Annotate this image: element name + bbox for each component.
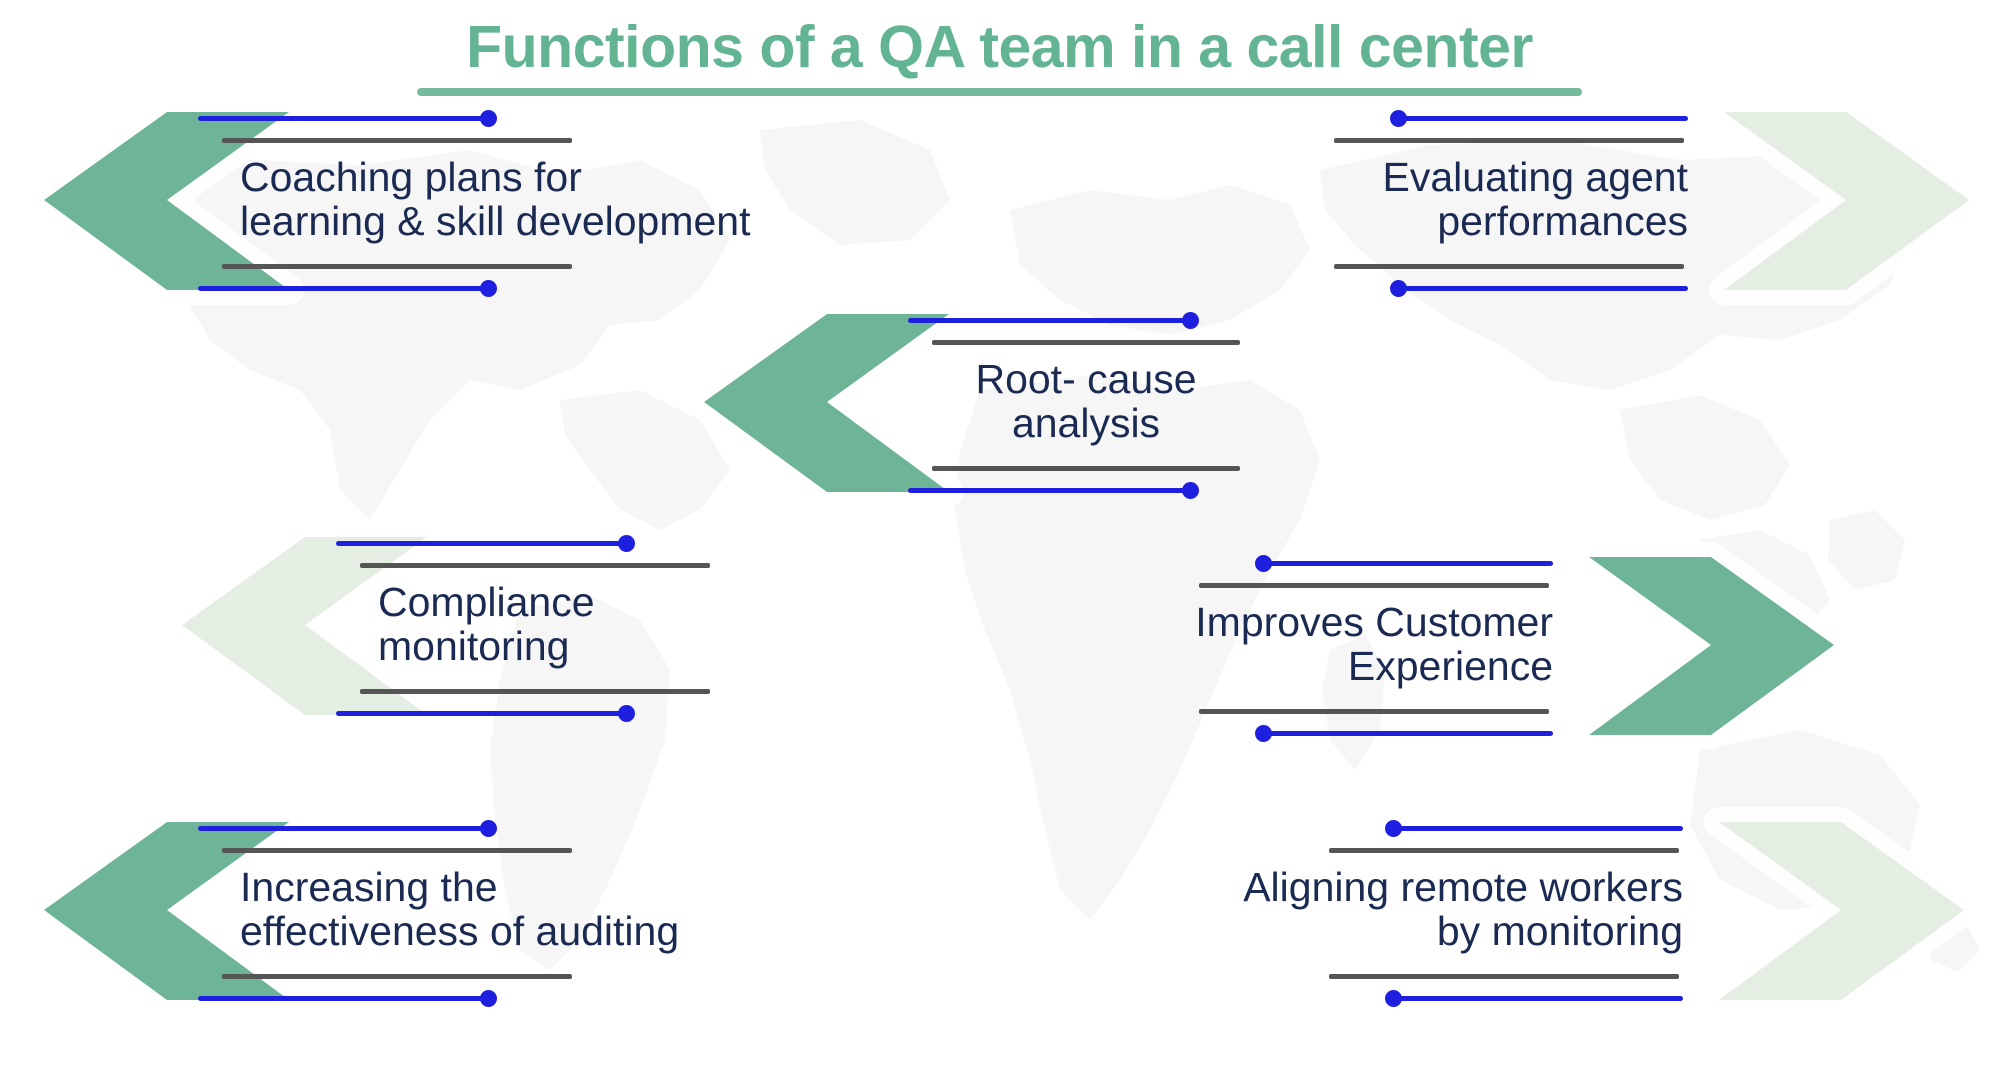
rule-grey-top [360, 563, 710, 568]
rule-blue-top [1393, 826, 1683, 831]
rule-dot-bottom [1390, 280, 1407, 297]
panel-improves-customer-experience: Improves Customer Experience [1155, 553, 1675, 743]
block-label: Root- cause analysis [932, 358, 1240, 446]
rule-dot-top [1390, 110, 1407, 127]
block-label: Coaching plans for learning & skill deve… [240, 156, 760, 244]
rule-blue-bottom [198, 996, 488, 1001]
rule-blue-bottom [336, 711, 626, 716]
panel-coaching-plans: Coaching plans for learning & skill deve… [198, 108, 720, 298]
rule-grey-bottom [1199, 709, 1549, 714]
rule-grey-bottom [932, 466, 1240, 471]
rule-grey-top [1329, 848, 1679, 853]
rule-grey-top [222, 138, 572, 143]
panel-aligning-remote-workers: Aligning remote workers by monitoring [1235, 818, 1805, 1008]
rule-grey-top [1334, 138, 1684, 143]
rule-blue-top [198, 116, 488, 121]
rule-blue-top [336, 541, 626, 546]
rule-grey-bottom [222, 974, 572, 979]
rule-dot-bottom [480, 990, 497, 1007]
rule-blue-bottom [1398, 286, 1688, 291]
block-compliance-monitoring[interactable]: Compliance monitoring [178, 533, 828, 723]
block-coaching-plans[interactable]: Coaching plans for learning & skill deve… [40, 108, 720, 298]
rule-grey-bottom [360, 689, 710, 694]
block-label: Compliance monitoring [378, 581, 808, 669]
rule-dot-top [1255, 555, 1272, 572]
rule-grey-top [1199, 583, 1549, 588]
rule-dot-bottom [1255, 725, 1272, 742]
rule-grey-top [222, 848, 572, 853]
title-block: Functions of a QA team in a call center [0, 0, 1999, 96]
rule-dot-top [480, 820, 497, 837]
rule-dot-top [1182, 312, 1199, 329]
block-label: Aligning remote workers by monitoring [1215, 866, 1683, 954]
panel-evaluating-agent-performances: Evaluating agent performances [1290, 108, 1810, 298]
rule-blue-top [1263, 561, 1553, 566]
block-label: Increasing the effectiveness of auditing [240, 866, 760, 954]
rule-grey-bottom [1334, 264, 1684, 269]
block-increasing-effectiveness-auditing[interactable]: Increasing the effectiveness of auditing [40, 818, 720, 1008]
panel-compliance-monitoring: Compliance monitoring [336, 533, 828, 723]
rule-blue-bottom [1393, 996, 1683, 1001]
block-root-cause-analysis[interactable]: Root- cause analysis [700, 310, 1340, 500]
rule-grey-top [932, 340, 1240, 345]
block-improves-customer-experience[interactable]: Improves Customer Experience [1155, 553, 1845, 743]
rule-grey-bottom [1329, 974, 1679, 979]
rule-blue-top [908, 318, 1190, 323]
block-label: Evaluating agent performances [1290, 156, 1688, 244]
block-label: Improves Customer Experience [1085, 601, 1553, 689]
rule-blue-bottom [1263, 731, 1553, 736]
rule-blue-top [1398, 116, 1688, 121]
rule-dot-bottom [1182, 482, 1199, 499]
rule-dot-top [1385, 820, 1402, 837]
block-evaluating-agent-performances[interactable]: Evaluating agent performances [1290, 108, 1980, 298]
rule-dot-bottom [1385, 990, 1402, 1007]
page-title: Functions of a QA team in a call center [0, 0, 1999, 80]
rule-dot-top [480, 110, 497, 127]
rule-blue-bottom [198, 286, 488, 291]
rule-dot-bottom [480, 280, 497, 297]
rule-dot-bottom [618, 705, 635, 722]
panel-increasing-effectiveness-auditing: Increasing the effectiveness of auditing [198, 818, 720, 1008]
block-aligning-remote-workers[interactable]: Aligning remote workers by monitoring [1235, 818, 1975, 1008]
rule-grey-bottom [222, 264, 572, 269]
rule-blue-bottom [908, 488, 1190, 493]
title-underline [417, 88, 1582, 96]
rule-dot-top [618, 535, 635, 552]
panel-root-cause-analysis: Root- cause analysis [908, 310, 1340, 500]
rule-blue-top [198, 826, 488, 831]
